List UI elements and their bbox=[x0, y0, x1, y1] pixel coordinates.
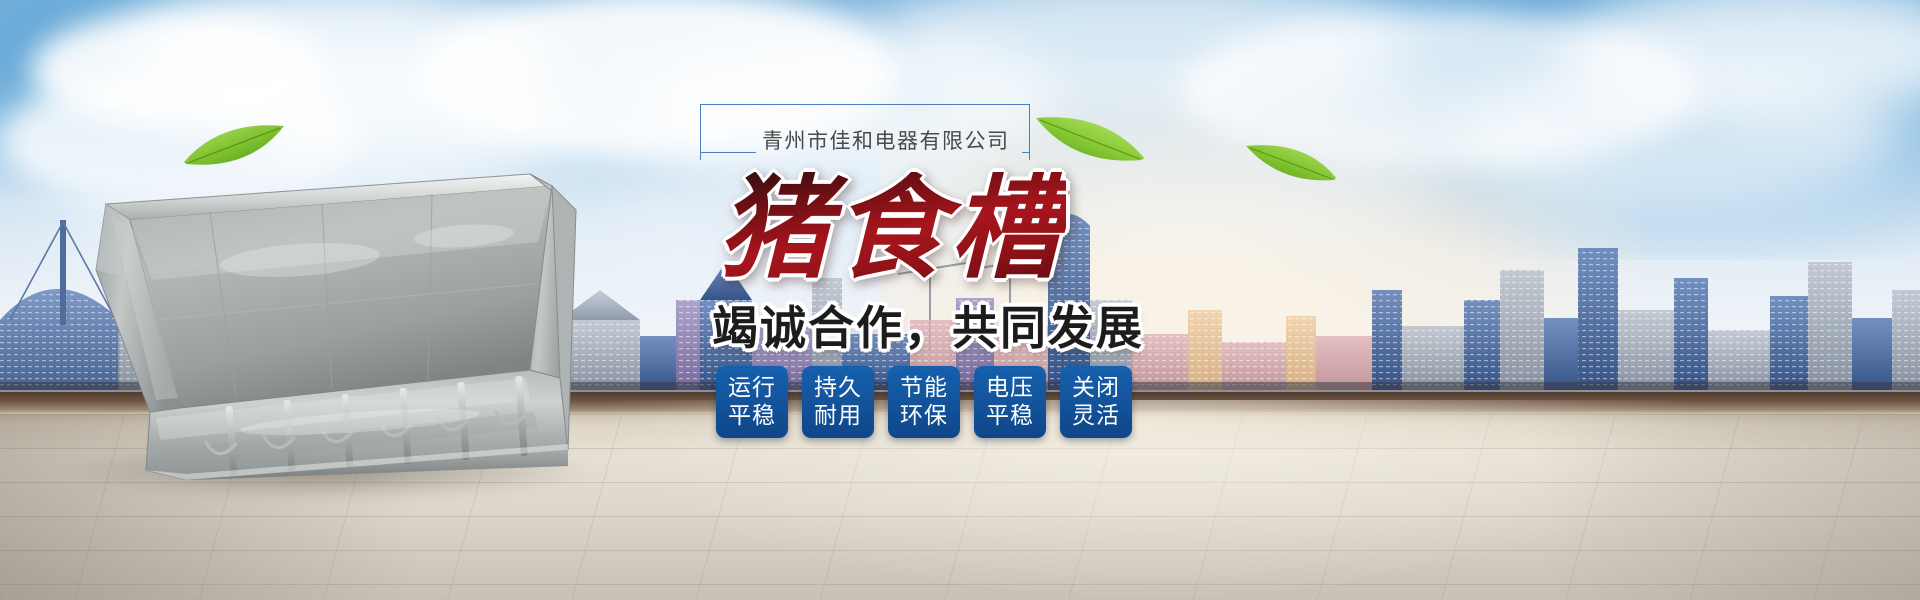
feature-badge[interactable]: 持久 耐用 bbox=[802, 366, 874, 438]
page-title: 猪食槽 bbox=[718, 172, 1066, 290]
badge-line-1: 关闭 bbox=[1072, 374, 1120, 402]
promo-banner: 青州市佳和电器有限公司 猪食槽 竭诚合作，共同发展 运行 平稳 持久 耐用 节能… bbox=[0, 0, 1920, 600]
feature-badge[interactable]: 节能 环保 bbox=[888, 366, 960, 438]
leaf-icon bbox=[180, 118, 290, 178]
leaf-icon bbox=[1240, 138, 1340, 190]
company-frame-rule-left bbox=[700, 152, 756, 153]
feature-badge[interactable]: 电压 平稳 bbox=[974, 366, 1046, 438]
badge-line-2: 灵活 bbox=[1072, 402, 1120, 430]
product-image-pig-feeding-trough bbox=[60, 150, 620, 480]
badge-line-2: 平稳 bbox=[986, 402, 1034, 430]
badge-line-2: 耐用 bbox=[814, 402, 862, 430]
feature-badge-list: 运行 平稳 持久 耐用 节能 环保 电压 平稳 关闭 灵活 bbox=[716, 366, 1132, 438]
feature-badge[interactable]: 运行 平稳 bbox=[716, 366, 788, 438]
badge-line-1: 节能 bbox=[900, 374, 948, 402]
badge-line-1: 持久 bbox=[814, 374, 862, 402]
company-name: 青州市佳和电器有限公司 bbox=[762, 125, 1042, 155]
banner-content: 青州市佳和电器有限公司 猪食槽 竭诚合作，共同发展 运行 平稳 持久 耐用 节能… bbox=[690, 96, 1250, 476]
badge-line-1: 运行 bbox=[728, 374, 776, 402]
badge-line-1: 电压 bbox=[986, 374, 1034, 402]
banner-subtitle: 竭诚合作，共同发展 bbox=[712, 292, 1144, 358]
badge-line-2: 环保 bbox=[900, 402, 948, 430]
badge-line-2: 平稳 bbox=[728, 402, 776, 430]
feature-badge[interactable]: 关闭 灵活 bbox=[1060, 366, 1132, 438]
